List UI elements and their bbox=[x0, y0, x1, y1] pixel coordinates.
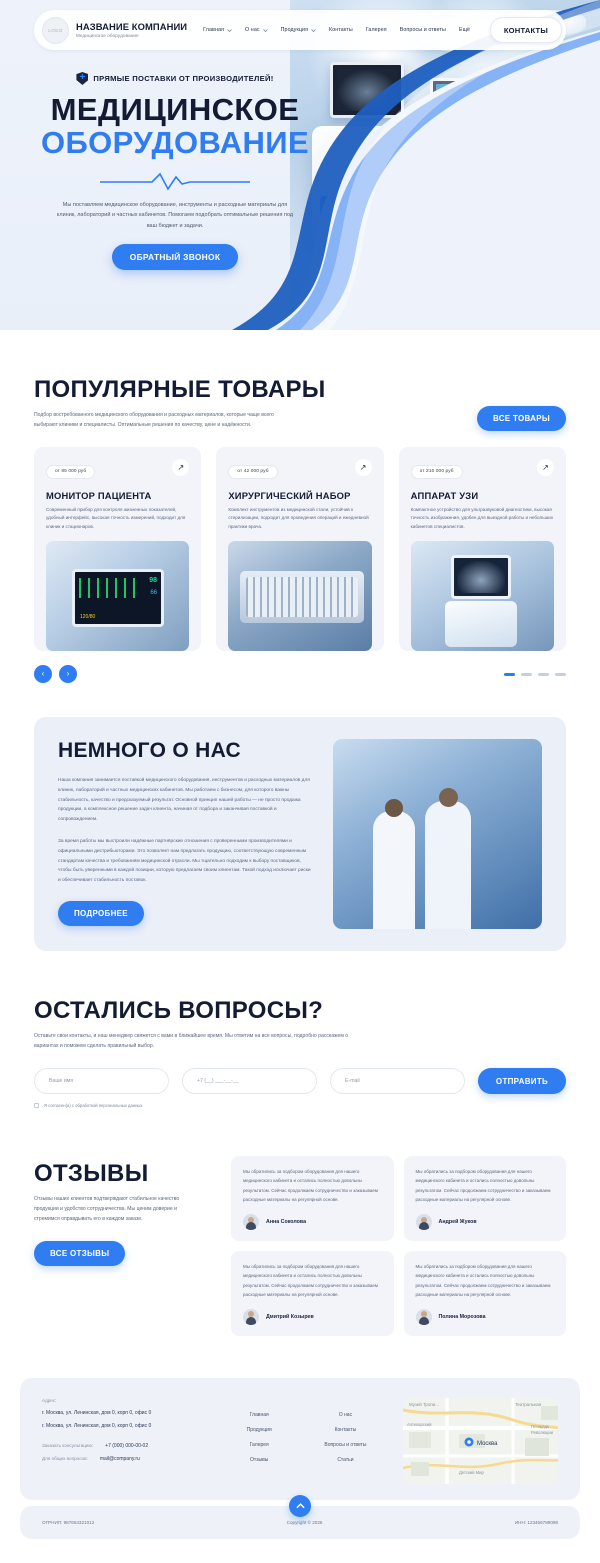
reviews-section: ОТЗЫВЫ Отзывы наших клиентов подтверждаю… bbox=[0, 1156, 600, 1336]
reviews-title: ОТЗЫВЫ bbox=[34, 1160, 209, 1188]
operating-table-base bbox=[522, 205, 532, 257]
ogrnip-text: ОГРНИП: 987654321012 bbox=[42, 1520, 94, 1525]
vitals-monitor-image bbox=[430, 78, 494, 126]
nav-item-gallery[interactable]: Галерея bbox=[366, 27, 387, 33]
review-author-name: Андрей Жуков bbox=[439, 1219, 477, 1225]
review-card: Мы обратились за подбором оборудования д… bbox=[231, 1251, 394, 1336]
review-author-row: Дмитрий Козырев bbox=[243, 1309, 382, 1325]
avatar bbox=[243, 1214, 259, 1230]
cart-wheel-icon bbox=[394, 250, 406, 262]
nav-label: О нас bbox=[245, 27, 260, 33]
product-description: Современный прибор для контроля жизненны… bbox=[46, 506, 189, 533]
about-image bbox=[333, 739, 542, 929]
product-price: от 42 000 руб bbox=[228, 465, 277, 479]
review-author-name: Дмитрий Козырев bbox=[266, 1314, 314, 1320]
products-header: ПОПУЛЯРНЫЕ ТОВАРЫ Подбор востребованного… bbox=[34, 376, 566, 431]
about-title: НЕМНОГО О НАС bbox=[58, 739, 313, 763]
nav-item-contacts[interactable]: Контакты bbox=[329, 27, 353, 33]
hero-content: + Прямые поставки от производителей! МЕД… bbox=[0, 72, 350, 270]
nav-label: Галерея bbox=[366, 27, 387, 33]
svg-text:Музей Тропи...: Музей Тропи... bbox=[409, 1402, 439, 1407]
nav-item-products[interactable]: Продукция bbox=[281, 27, 316, 33]
reviews-description: Отзывы наших клиентов подтверждают стаби… bbox=[34, 1195, 194, 1225]
about-section: НЕМНОГО О НАС Наша компания занимается п… bbox=[0, 717, 600, 951]
nav-item-more[interactable]: Ещё bbox=[459, 27, 470, 33]
hero-title-line2: ОБОРУДОВАНИЕ bbox=[0, 127, 350, 159]
reviews-intro: ОТЗЫВЫ Отзывы наших клиентов подтверждаю… bbox=[34, 1156, 209, 1336]
arrow-up-right-icon[interactable]: ↗ bbox=[355, 459, 372, 476]
medical-shield-icon: + bbox=[76, 72, 88, 85]
review-author-row: Андрей Жуков bbox=[416, 1214, 555, 1230]
svg-text:Аптекарский: Аптекарский bbox=[407, 1422, 432, 1427]
about-more-button[interactable]: Подробнее bbox=[58, 901, 144, 926]
footer-link-products[interactable]: Продукция bbox=[247, 1427, 272, 1433]
footer-link-faq[interactable]: Вопросы и ответы bbox=[324, 1442, 366, 1448]
product-image bbox=[411, 541, 554, 651]
general-email[interactable]: mail@company.ru bbox=[100, 1456, 140, 1462]
consultation-label: Заказать консультацию: bbox=[42, 1443, 93, 1449]
nav-label: Ещё bbox=[459, 27, 470, 33]
inn-text: ИНН: 123456789098 bbox=[515, 1520, 558, 1525]
carousel-dot-3[interactable] bbox=[538, 673, 549, 676]
callback-button[interactable]: Обратный звонок bbox=[112, 244, 238, 270]
chevron-up-icon bbox=[296, 1502, 305, 1509]
products-section: ПОПУЛЯРНЫЕ ТОВАРЫ Подбор востребованного… bbox=[0, 330, 600, 683]
questions-title: ОСТАЛИСЬ ВОПРОСЫ? bbox=[34, 997, 566, 1025]
general-questions-row: Для общих вопросов: mail@company.ru bbox=[42, 1456, 213, 1462]
carousel-prev-button[interactable]: ‹ bbox=[34, 665, 52, 683]
site-footer: Адрес: г. Москва, ул. Ленинская, дом 0, … bbox=[0, 1378, 600, 1539]
product-card[interactable]: от 210 000 руб ↗ Аппарат УЗИ Компактное … bbox=[399, 447, 566, 651]
carousel-dot-1[interactable] bbox=[504, 673, 515, 676]
about-paragraph-2: За время работы мы выстроили надёжные па… bbox=[58, 837, 313, 885]
product-card[interactable]: от 42 000 руб ↗ Хирургический набор Комп… bbox=[216, 447, 383, 651]
product-price: от 210 000 руб bbox=[411, 465, 463, 479]
product-image: 9866120/80 bbox=[46, 541, 189, 651]
arrow-up-right-icon[interactable]: ↗ bbox=[172, 459, 189, 476]
footer-address-column: Адрес: г. Москва, ул. Ленинская, дом 0, … bbox=[42, 1398, 213, 1484]
product-image bbox=[228, 541, 371, 651]
avatar bbox=[416, 1309, 432, 1325]
product-description: Комплект инструментов из медицинской ста… bbox=[228, 506, 371, 533]
copyright-text: Copyright © 2026 bbox=[287, 1520, 323, 1525]
products-cards: от 85 000 руб ↗ Монитор пациента Совреме… bbox=[34, 447, 566, 651]
review-author-row: Полина Морозова bbox=[416, 1309, 555, 1325]
site-header: LOGO НАЗВАНИЕ КОМПАНИИ Медицинское обору… bbox=[34, 10, 566, 50]
footer-nav-column-2: О нас Контакты Вопросы и ответы Статьи bbox=[306, 1398, 385, 1484]
review-card: Мы обратились за подбором оборудования д… bbox=[231, 1156, 394, 1241]
products-description: Подбор востребованного медицинского обор… bbox=[34, 411, 296, 431]
hero-description: Мы поставляем медицинское оборудование, … bbox=[0, 200, 350, 231]
operating-table-image bbox=[496, 185, 598, 207]
contacts-button[interactable]: Контакты bbox=[490, 17, 562, 43]
email-input[interactable]: E-mail bbox=[330, 1068, 465, 1094]
hero-badge: + Прямые поставки от производителей! bbox=[0, 72, 350, 85]
footer-link-reviews[interactable]: Отзывы bbox=[250, 1457, 268, 1463]
map-graphic: Москва Театральная Музей Тропи... Площад… bbox=[403, 1398, 558, 1484]
nav-label: Вопросы и ответы bbox=[400, 27, 446, 33]
nav-item-home[interactable]: Главная bbox=[203, 27, 232, 33]
chevron-down-icon bbox=[311, 29, 316, 32]
about-paragraph-1: Наша компания занимается поставкой медиц… bbox=[58, 776, 313, 824]
product-price: от 85 000 руб bbox=[46, 465, 95, 479]
chevron-down-icon bbox=[263, 29, 268, 32]
logo-text: LOGO bbox=[48, 28, 62, 33]
product-description: Компактное устройство для ультразвуковой… bbox=[411, 506, 554, 533]
scroll-to-top-button[interactable] bbox=[289, 1495, 311, 1517]
general-label: Для общих вопросов: bbox=[42, 1456, 88, 1462]
brand-subtitle: Медицинское оборудование bbox=[76, 34, 187, 39]
brand-name: НАЗВАНИЕ КОМПАНИИ bbox=[76, 22, 187, 32]
product-name: Аппарат УЗИ bbox=[411, 490, 554, 501]
product-card[interactable]: от 85 000 руб ↗ Монитор пациента Совреме… bbox=[34, 447, 201, 651]
carousel-dot-4[interactable] bbox=[555, 673, 566, 676]
questions-section: ОСТАЛИСЬ ВОПРОСЫ? Оставьте свои контакты… bbox=[0, 951, 600, 1108]
heartbeat-pulse-icon bbox=[100, 170, 250, 192]
svg-text:Революции: Революции bbox=[531, 1430, 554, 1435]
nav-item-about[interactable]: О нас bbox=[245, 27, 268, 33]
products-carousel-controls: ‹ › bbox=[34, 665, 566, 683]
cart-wheel-icon bbox=[494, 254, 506, 266]
avatar bbox=[416, 1214, 432, 1230]
svg-text:Площадь: Площадь bbox=[531, 1424, 550, 1429]
name-input[interactable]: Ваше имя bbox=[34, 1068, 169, 1094]
footer-link-articles[interactable]: Статьи bbox=[337, 1457, 353, 1463]
phone-input[interactable]: +7 (__) ___-__-__ bbox=[182, 1068, 317, 1094]
footer-main: Адрес: г. Москва, ул. Ленинская, дом 0, … bbox=[20, 1378, 580, 1500]
footer-map[interactable]: Москва Театральная Музей Тропи... Площад… bbox=[403, 1398, 558, 1484]
review-author-name: Полина Морозова bbox=[439, 1314, 486, 1320]
svg-text:Москва: Москва bbox=[477, 1441, 498, 1447]
nav-item-faq[interactable]: Вопросы и ответы bbox=[400, 27, 446, 33]
consultation-phone[interactable]: +7 (000) 000-00-02 bbox=[105, 1443, 148, 1449]
product-name: Монитор пациента bbox=[46, 490, 189, 501]
review-text: Мы обратились за подбором оборудования д… bbox=[243, 1262, 382, 1299]
address-label: Адрес: bbox=[42, 1398, 213, 1403]
consent-row[interactable]: Я согласен(а) с обработкой персональных … bbox=[34, 1103, 566, 1108]
reviews-grid: Мы обратились за подбором оборудования д… bbox=[231, 1156, 566, 1336]
review-card: Мы обратились за подбором оборудования д… bbox=[404, 1156, 567, 1241]
footer-link-contacts[interactable]: Контакты bbox=[335, 1427, 357, 1433]
svg-text:Театральная: Театральная bbox=[515, 1402, 542, 1407]
review-text: Мы обратились за подбором оборудования д… bbox=[416, 1262, 555, 1299]
products-title: ПОПУЛЯРНЫЕ ТОВАРЫ bbox=[34, 376, 326, 404]
arrow-up-right-icon[interactable]: ↗ bbox=[537, 459, 554, 476]
hero-section: LOGO НАЗВАНИЕ КОМПАНИИ Медицинское обору… bbox=[0, 0, 600, 330]
contact-form: Ваше имя +7 (__) ___-__-__ E-mail Отправ… bbox=[34, 1068, 566, 1094]
consent-checkbox[interactable] bbox=[34, 1103, 39, 1108]
footer-nav-column-1: Главная Продукция Галерея Отзывы bbox=[231, 1398, 288, 1484]
chevron-down-icon bbox=[227, 29, 232, 32]
nav-label: Главная bbox=[203, 27, 224, 33]
carousel-dot-2[interactable] bbox=[521, 673, 532, 676]
logo-icon[interactable]: LOGO bbox=[42, 17, 69, 44]
carousel-next-button[interactable]: › bbox=[59, 665, 77, 683]
review-text: Мы обратились за подбором оборудования д… bbox=[416, 1167, 555, 1204]
avatar bbox=[243, 1309, 259, 1325]
questions-description: Оставьте свои контакты, и наш менеджер с… bbox=[34, 1032, 364, 1052]
brand-block[interactable]: НАЗВАНИЕ КОМПАНИИ Медицинское оборудован… bbox=[76, 22, 187, 39]
address-line-1: г. Москва, ул. Ленинская, дом 0, корп 0,… bbox=[42, 1410, 213, 1416]
address-line-2: г. Москва, ул. Ленинская, дом 0, корп 0,… bbox=[42, 1423, 213, 1429]
hero-badge-text: Прямые поставки от производителей! bbox=[93, 74, 273, 83]
nav-label: Контакты bbox=[329, 27, 353, 33]
review-author-name: Анна Соколова bbox=[266, 1219, 306, 1225]
consent-label: Я согласен(а) с обработкой персональных … bbox=[44, 1103, 143, 1108]
carousel-dots bbox=[504, 673, 566, 676]
cart-wheel-icon bbox=[422, 254, 434, 266]
review-author-row: Анна Соколова bbox=[243, 1214, 382, 1230]
svg-text:Детский Мир: Детский Мир bbox=[459, 1470, 484, 1475]
nav-label: Продукция bbox=[281, 27, 308, 33]
review-text: Мы обратились за подбором оборудования д… bbox=[243, 1167, 382, 1204]
footer-link-about[interactable]: О нас bbox=[339, 1412, 352, 1418]
main-nav: Главная О нас Продукция Контакты Галерея… bbox=[203, 27, 490, 33]
all-products-button[interactable]: Все товары bbox=[477, 406, 566, 431]
hero-title-line1: МЕДИЦИНСКОЕ bbox=[0, 94, 350, 126]
equipment-cart-secondary-image bbox=[416, 140, 506, 252]
consultation-row: Заказать консультацию: +7 (000) 000-00-0… bbox=[42, 1443, 213, 1449]
footer-link-home[interactable]: Главная bbox=[250, 1412, 269, 1418]
product-name: Хирургический набор bbox=[228, 490, 371, 501]
footer-link-gallery[interactable]: Галерея bbox=[250, 1442, 269, 1448]
about-box: НЕМНОГО О НАС Наша компания занимается п… bbox=[34, 717, 566, 951]
footer-copyright-bar: ОГРНИП: 987654321012 Copyright © 2026 ИН… bbox=[20, 1506, 580, 1539]
about-text-column: НЕМНОГО О НАС Наша компания занимается п… bbox=[58, 739, 313, 929]
all-reviews-button[interactable]: Все отзывы bbox=[34, 1241, 125, 1266]
review-card: Мы обратились за подбором оборудования д… bbox=[404, 1251, 567, 1336]
submit-button[interactable]: Отправить bbox=[478, 1068, 566, 1094]
